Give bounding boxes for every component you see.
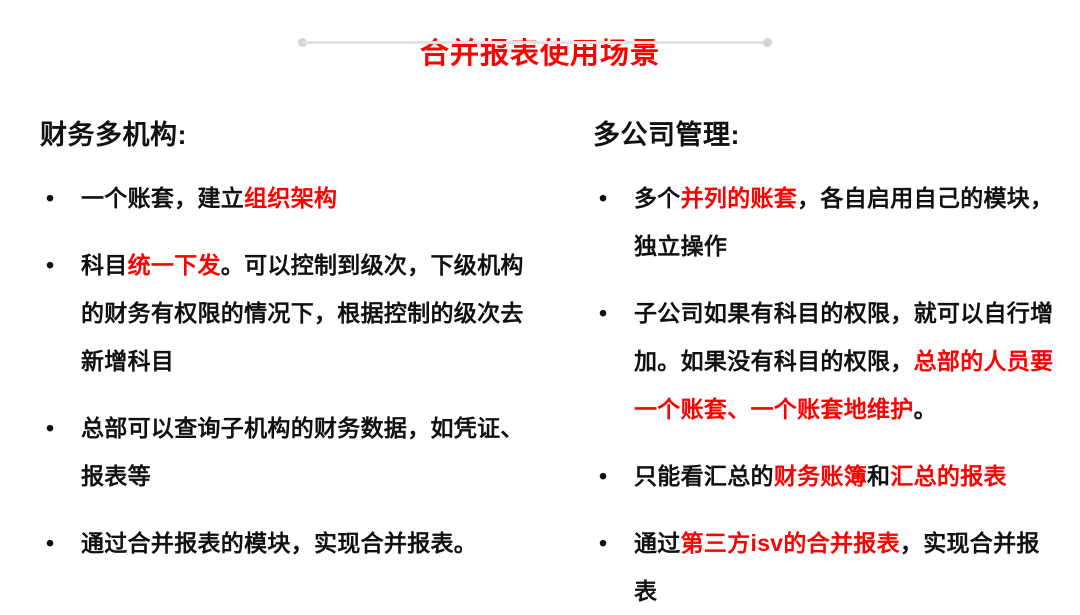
bullet-marker-icon: •	[599, 452, 613, 500]
body-text: 通过	[634, 530, 681, 556]
bullet-list-right: • 多个并列的账套，各自启用自己的模块，独立操作 • 子公司如果有科目的权限，就…	[593, 174, 1062, 615]
body-text: 只能看汇总的	[634, 463, 774, 489]
title-divider	[298, 38, 772, 47]
list-item: • 子公司如果有科目的权限，就可以自行增加。如果没有科目的权限，总部的人员要一个…	[593, 289, 1062, 433]
list-item: • 通过合并报表的模块，实现合并报表。	[40, 519, 540, 567]
body-text: 总部可以查询子机构的财务数据，如凭证、报表等	[81, 415, 524, 489]
bullet-text: 多个并列的账套，各自启用自己的模块，独立操作	[634, 185, 1053, 259]
bullet-marker-icon: •	[46, 519, 60, 567]
bullet-marker-icon: •	[599, 519, 613, 567]
bullet-marker-icon: •	[599, 289, 613, 337]
divider-line	[302, 41, 768, 44]
column-finance-multi-org: 财务多机构: • 一个账套，建立组织架构 • 科目统一下发。可以控制到级次，下级…	[0, 118, 560, 615]
bullet-text: 一个账套，建立组织架构	[81, 185, 337, 211]
list-item: • 多个并列的账套，各自启用自己的模块，独立操作	[593, 174, 1062, 270]
column-heading-right: 多公司管理:	[593, 118, 1062, 152]
column-multi-company-management: 多公司管理: • 多个并列的账套，各自启用自己的模块，独立操作 • 子公司如果有…	[560, 118, 1080, 615]
bullet-text: 通过合并报表的模块，实现合并报表。	[81, 530, 477, 556]
column-heading-left: 财务多机构:	[40, 118, 540, 152]
bullet-text: 科目统一下发。可以控制到级次，下级机构的财务有权限的情况下，根据控制的级次去新增…	[81, 252, 524, 374]
body-text: 和	[867, 463, 890, 489]
body-text: 通过合并报表的模块，实现合并报表。	[81, 530, 477, 556]
emphasis-text: 统一下发	[128, 252, 221, 278]
bullet-text: 只能看汇总的财务账簿和汇总的报表	[634, 463, 1007, 489]
bullet-text: 子公司如果有科目的权限，就可以自行增加。如果没有科目的权限，总部的人员要一个账套…	[634, 300, 1053, 422]
bullet-marker-icon: •	[46, 241, 60, 289]
bullet-marker-icon: •	[599, 174, 613, 222]
emphasis-text: 并列的账套	[681, 185, 798, 211]
body-text: 多个	[634, 185, 681, 211]
list-item: • 总部可以查询子机构的财务数据，如凭证、报表等	[40, 404, 540, 500]
content-columns: 财务多机构: • 一个账套，建立组织架构 • 科目统一下发。可以控制到级次，下级…	[0, 118, 1080, 615]
list-item: • 只能看汇总的财务账簿和汇总的报表	[593, 452, 1062, 500]
bullet-text: 通过第三方isv的合并报表，实现合并报表	[634, 530, 1040, 604]
emphasis-text: 第三方isv的合并报表	[681, 530, 900, 556]
body-text: 科目	[81, 252, 128, 278]
emphasis-text: 财务账簿	[774, 463, 867, 489]
emphasis-text: 汇总的报表	[890, 463, 1007, 489]
bullet-list-left: • 一个账套，建立组织架构 • 科目统一下发。可以控制到级次，下级机构的财务有权…	[40, 174, 540, 567]
bullet-marker-icon: •	[46, 174, 60, 222]
body-text: 一个账套，建立	[81, 185, 244, 211]
list-item: • 一个账套，建立组织架构	[40, 174, 540, 222]
divider-dot-right-icon	[763, 38, 772, 47]
bullet-text: 总部可以查询子机构的财务数据，如凭证、报表等	[81, 415, 524, 489]
list-item: • 科目统一下发。可以控制到级次，下级机构的财务有权限的情况下，根据控制的级次去…	[40, 241, 540, 385]
emphasis-text: 组织架构	[244, 185, 337, 211]
body-text: 。	[914, 396, 937, 422]
bullet-marker-icon: •	[46, 404, 60, 452]
